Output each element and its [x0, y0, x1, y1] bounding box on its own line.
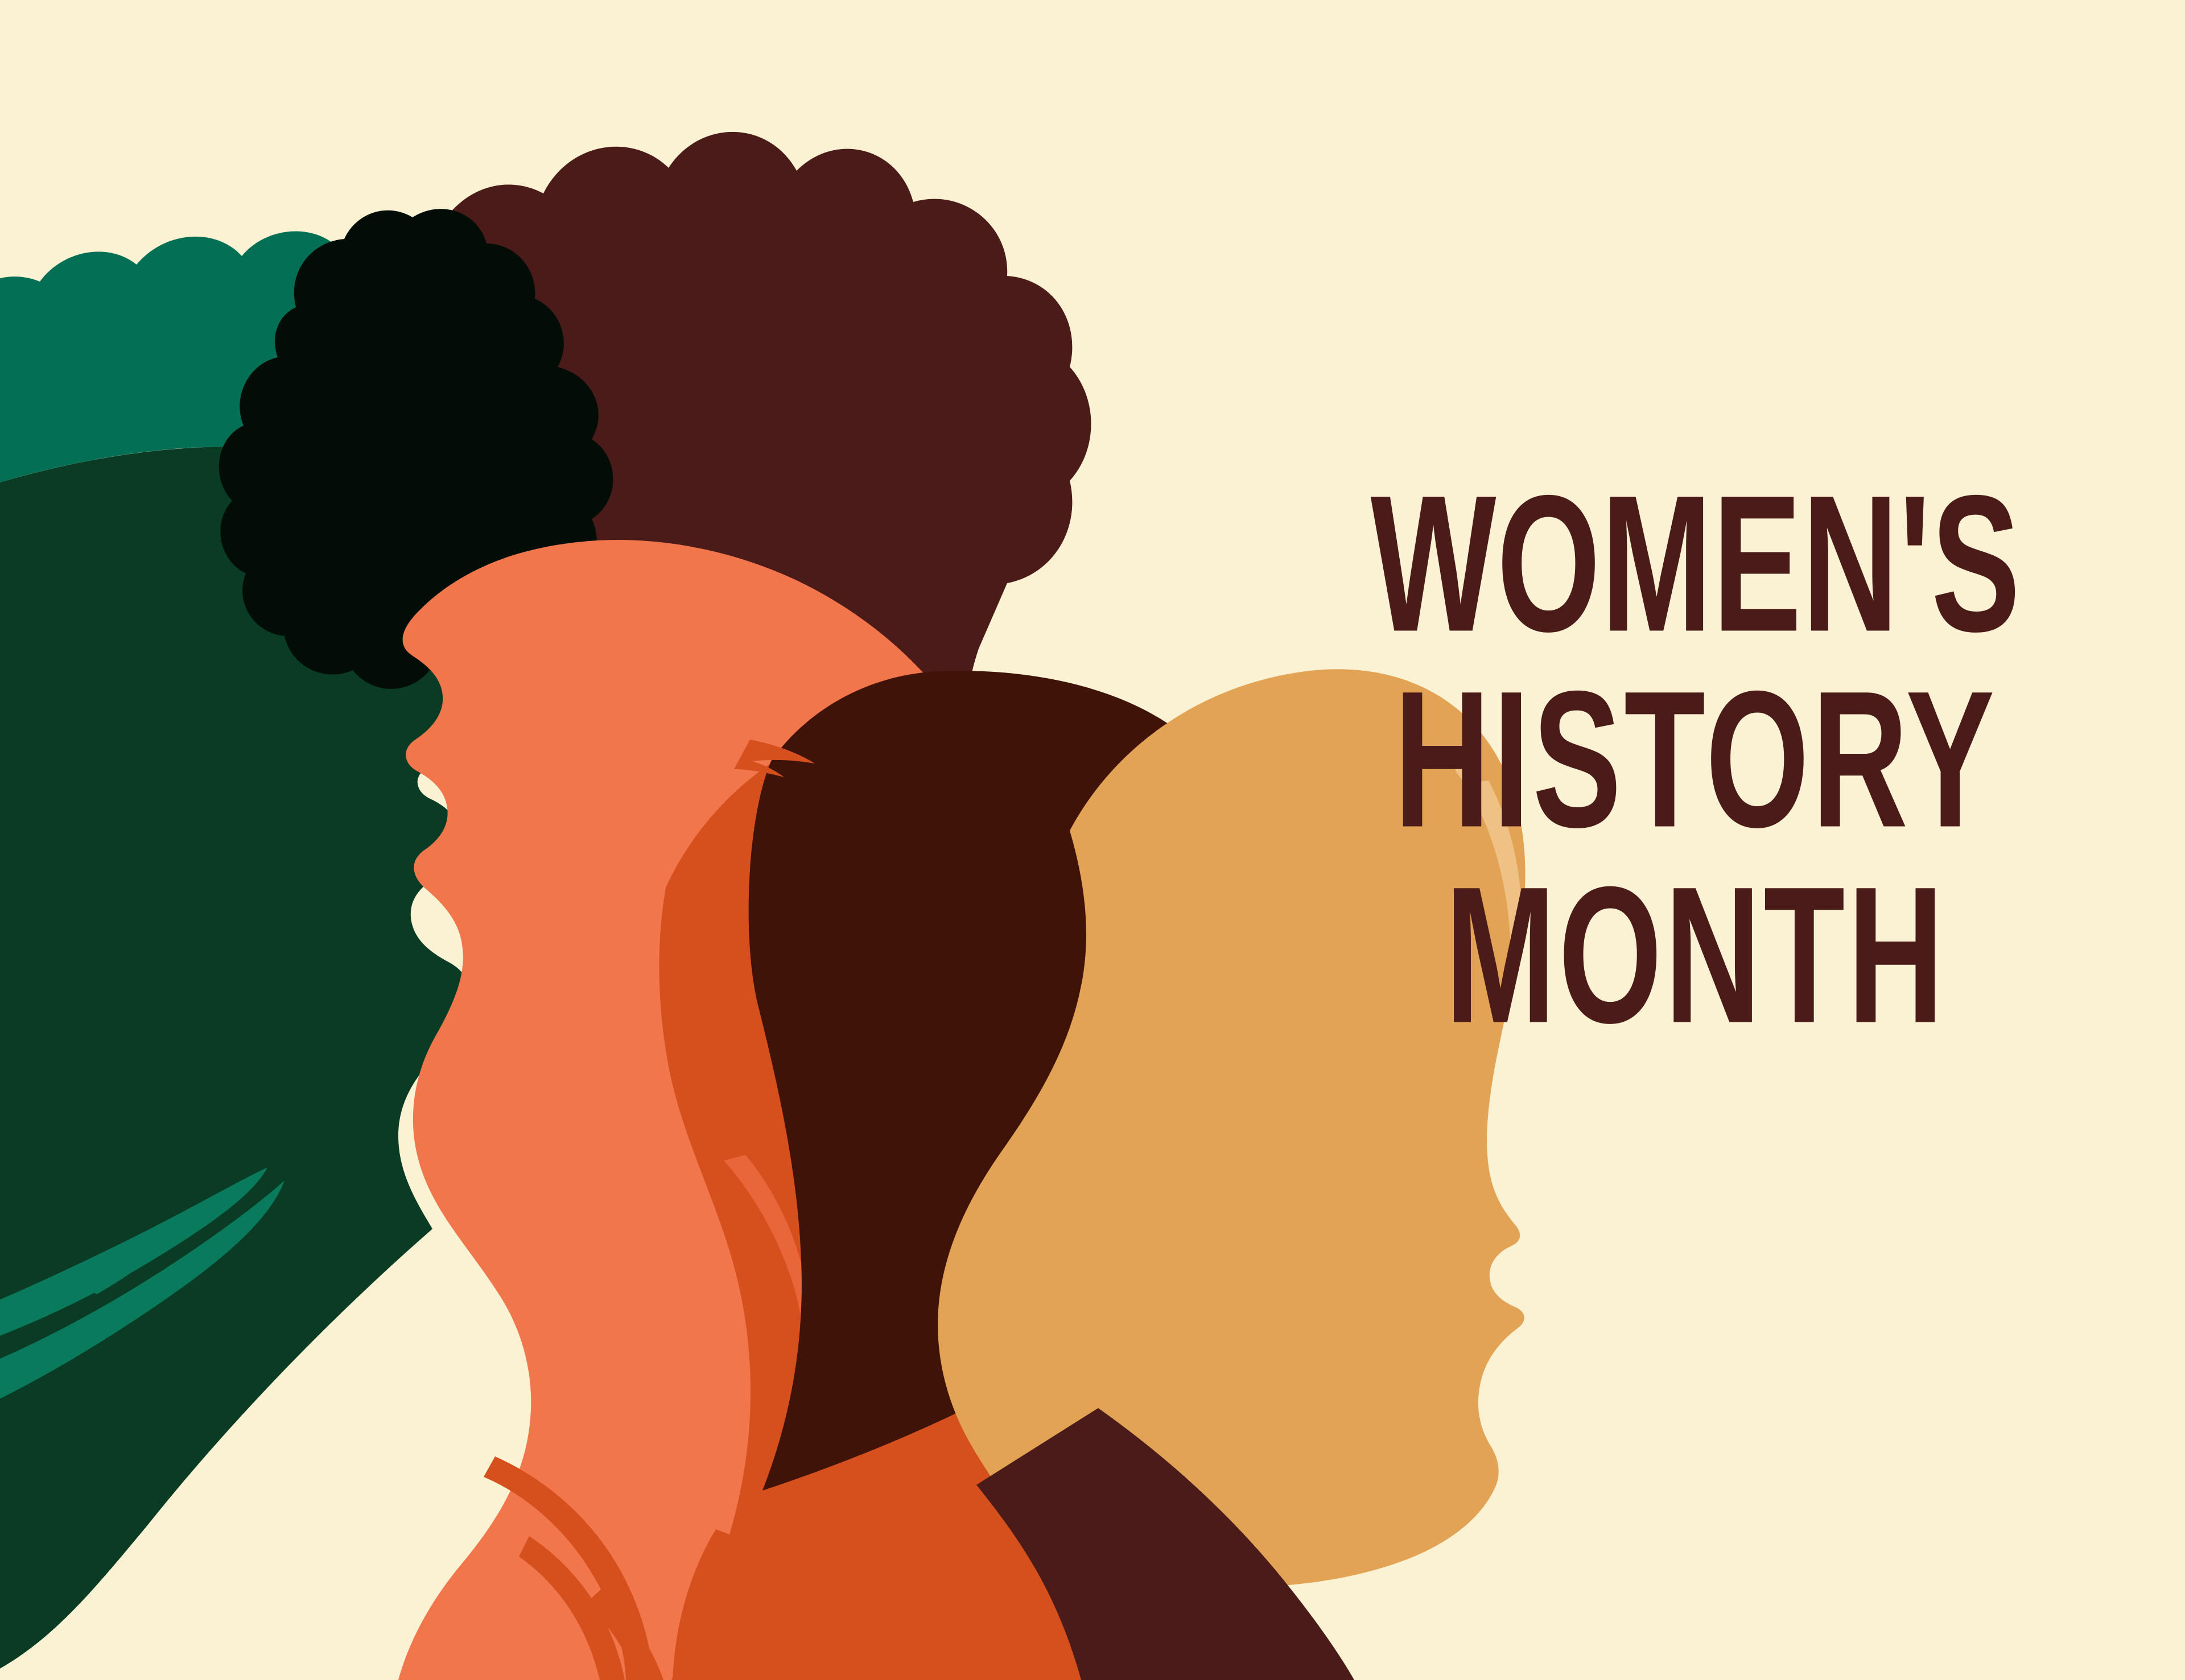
- page-title: WOMEN'S HISTORY MONTH: [1275, 478, 2117, 1040]
- headline-line-2: HISTORY: [1367, 662, 2024, 856]
- headline-line-3: MONTH: [1367, 857, 2024, 1052]
- womens-history-month-poster: WOMEN'S HISTORY MONTH: [0, 0, 2185, 1680]
- headline-line-1: WOMEN'S: [1367, 466, 2024, 661]
